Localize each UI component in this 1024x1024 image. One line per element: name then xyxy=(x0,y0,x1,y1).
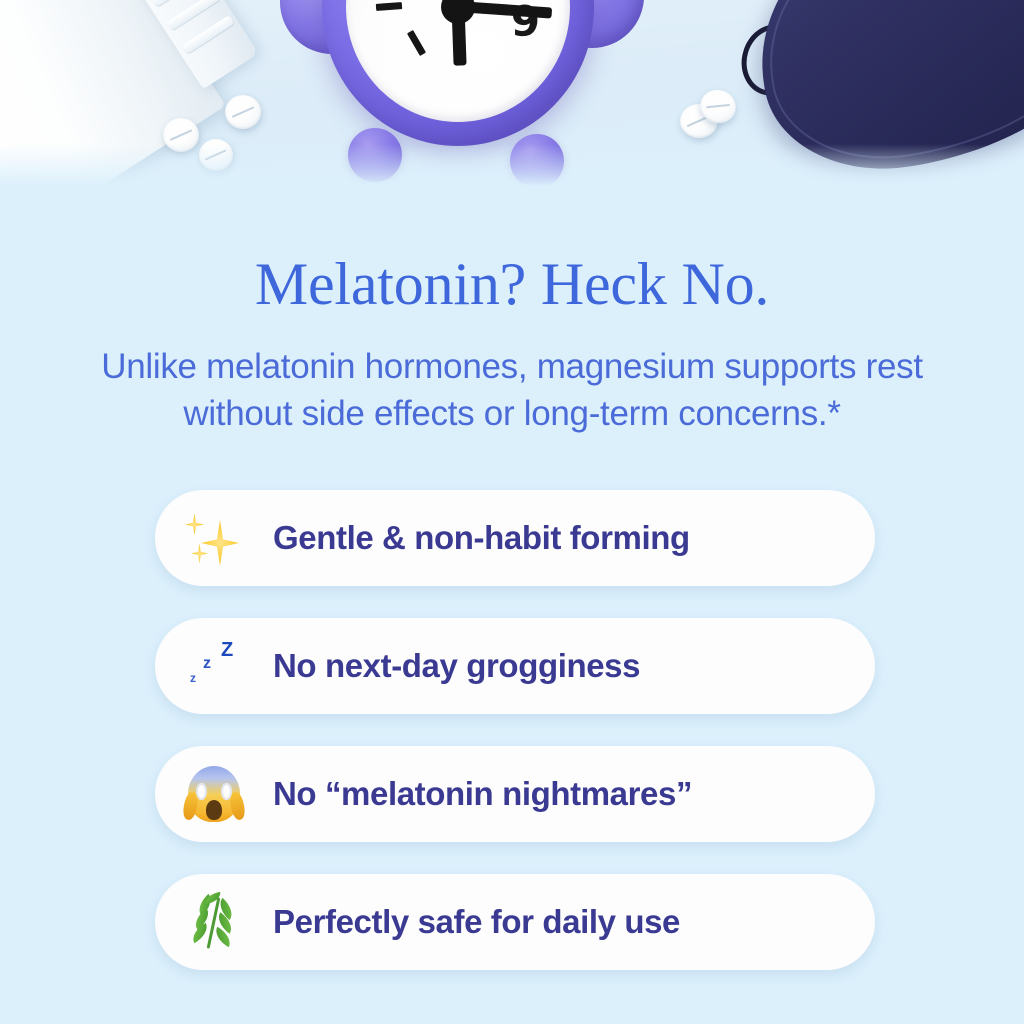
herb-leaf-icon xyxy=(155,893,273,951)
clock-tick xyxy=(376,2,402,11)
clock-hub xyxy=(441,0,475,24)
screaming-face-icon xyxy=(155,766,273,822)
clock-foot-right xyxy=(510,134,564,188)
clock-foot-left xyxy=(348,128,402,182)
page-subtitle: Unlike melatonin hormones, magnesium sup… xyxy=(0,344,1024,438)
feature-card-label: No “melatonin nightmares” xyxy=(273,775,692,813)
feature-card-list: Gentle & non-habit forming Zzz No next-d… xyxy=(155,490,875,970)
clock-tick xyxy=(407,30,426,56)
feature-card-daily-use[interactable]: Perfectly safe for daily use xyxy=(155,874,875,970)
hero-photo-band: 6 3 xyxy=(0,0,1024,190)
feature-card-label: No next-day grogginess xyxy=(273,647,640,685)
tablet xyxy=(199,139,233,171)
sparkles-icon xyxy=(155,509,273,567)
tablet xyxy=(163,118,199,152)
page-title: Melatonin? Heck No. xyxy=(0,254,1024,314)
zzz-sleep-icon: Zzz xyxy=(155,637,273,695)
feature-card-label: Perfectly safe for daily use xyxy=(273,903,680,941)
promo-graphic: 6 3 Melatonin? Heck No. Unlike xyxy=(0,0,1024,1024)
sleep-mask-seam xyxy=(749,0,1024,176)
tablet xyxy=(225,95,261,129)
feature-card-gentle[interactable]: Gentle & non-habit forming xyxy=(155,490,875,586)
clock-face: 6 3 xyxy=(346,0,570,122)
alarm-clock: 6 3 xyxy=(296,0,626,172)
feature-card-label: Gentle & non-habit forming xyxy=(273,519,690,557)
feature-card-grogginess[interactable]: Zzz No next-day grogginess xyxy=(155,618,875,714)
sleep-mask xyxy=(758,0,1024,186)
feature-card-nightmares[interactable]: No “melatonin nightmares” xyxy=(155,746,875,842)
clock-ring: 6 3 xyxy=(322,0,594,146)
